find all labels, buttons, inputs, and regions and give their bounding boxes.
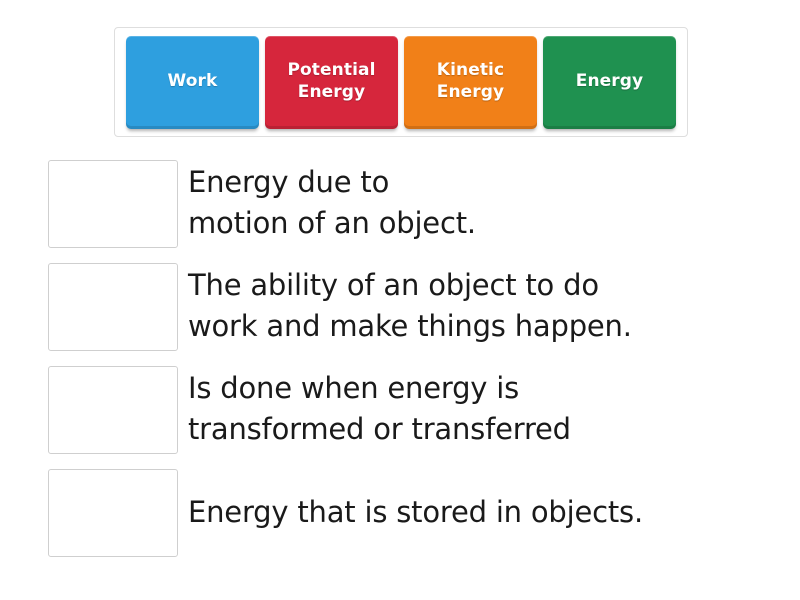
answer-row: Energy due to motion of an object. (48, 160, 778, 248)
drop-zone[interactable] (48, 469, 178, 557)
answer-list: Energy due to motion of an object. The a… (48, 160, 778, 572)
draggable-tile-label: Work (162, 71, 224, 93)
answer-text: Is done when energy is transformed or tr… (178, 366, 778, 450)
draggable-tile-potential-energy[interactable]: Potential Energy (265, 36, 398, 129)
drop-zone[interactable] (48, 160, 178, 248)
draggable-tile-work[interactable]: Work (126, 36, 259, 129)
draggable-tile-label: Energy (570, 71, 649, 93)
answer-row: The ability of an object to do work and … (48, 263, 778, 351)
answer-row: Is done when energy is transformed or tr… (48, 366, 778, 454)
answer-text: Energy that is stored in objects. (178, 492, 778, 533)
answer-text: Energy due to motion of an object. (178, 160, 778, 244)
draggable-tile-energy[interactable]: Energy (543, 36, 676, 129)
drop-zone[interactable] (48, 366, 178, 454)
answer-row: Energy that is stored in objects. (48, 469, 778, 557)
draggable-tile-kinetic-energy[interactable]: Kinetic Energy (404, 36, 537, 129)
draggable-tile-tray: Work Potential Energy Kinetic Energy Ene… (114, 27, 688, 137)
draggable-tile-label: Potential Energy (281, 60, 381, 104)
draggable-tile-label: Kinetic Energy (431, 60, 510, 104)
drop-zone[interactable] (48, 263, 178, 351)
answer-text: The ability of an object to do work and … (178, 263, 778, 347)
